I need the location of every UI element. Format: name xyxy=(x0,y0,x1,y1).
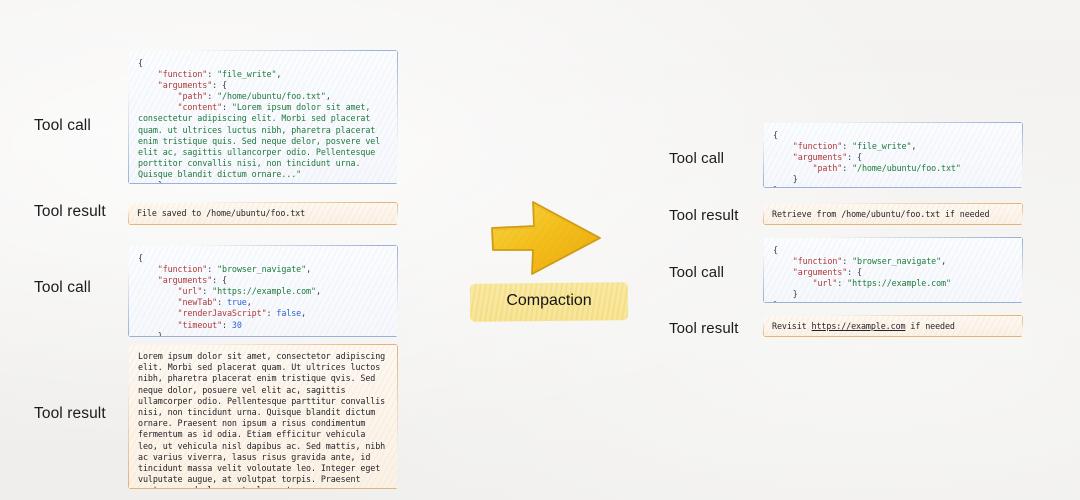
right-tool-call-block-1[interactable]: { "function": "file_write", "arguments":… xyxy=(764,123,1022,187)
left-label-tool-call-1: Tool call xyxy=(34,117,91,135)
result-text-4: Revisit https://example.com if needed xyxy=(772,321,1014,332)
json-code-1: { "function": "file_write", "arguments":… xyxy=(138,58,388,183)
result-text-3: Retrieve from /home/ubuntu/foo.txt if ne… xyxy=(772,209,1014,220)
result-surface: Lorem ipsum dolor sit amet, consectetor … xyxy=(129,345,397,488)
left-tool-result-block-2[interactable]: Lorem ipsum dolor sit amet, consectetor … xyxy=(129,345,397,488)
right-tool-result-block-1[interactable]: Retrieve from /home/ubuntu/foo.txt if ne… xyxy=(764,204,1022,224)
result-text-1: File saved to /home/ubuntu/foo.txt xyxy=(137,208,389,219)
left-tool-result-block-1[interactable]: File saved to /home/ubuntu/foo.txt xyxy=(129,203,397,224)
right-tool-call-block-2[interactable]: { "function": "browser_navigate", "argum… xyxy=(764,238,1022,302)
code-surface: { "function": "file_write", "arguments":… xyxy=(129,51,397,183)
code-surface: { "function": "browser_navigate", "argum… xyxy=(129,246,397,336)
right-tool-result-block-2[interactable]: Revisit https://example.com if needed xyxy=(764,316,1022,336)
left-label-tool-result-1: Tool result xyxy=(34,203,106,221)
right-arrow-icon xyxy=(488,192,608,284)
result-surface: File saved to /home/ubuntu/foo.txt xyxy=(129,203,397,224)
result-surface: Retrieve from /home/ubuntu/foo.txt if ne… xyxy=(764,204,1022,224)
right-label-tool-call-2: Tool call xyxy=(669,264,724,281)
json-code-2: { "function": "browser_navigate", "argum… xyxy=(138,253,388,336)
right-label-tool-result-2: Tool result xyxy=(669,320,738,337)
json-code-4: { "function": "browser_navigate", "argum… xyxy=(773,245,1013,302)
compaction-arrow xyxy=(488,192,608,284)
code-surface: { "function": "file_write", "arguments":… xyxy=(764,123,1022,187)
result-text-2: Lorem ipsum dolor sit amet, consectetor … xyxy=(138,351,388,488)
left-label-tool-result-2: Tool result xyxy=(34,405,106,423)
right-label-tool-result-1: Tool result xyxy=(669,207,738,224)
code-surface: { "function": "browser_navigate", "argum… xyxy=(764,238,1022,302)
result-surface: Revisit https://example.com if needed xyxy=(764,316,1022,336)
right-label-tool-call-1: Tool call xyxy=(669,150,724,167)
compaction-label: Compaction xyxy=(470,292,628,310)
left-tool-call-block-2[interactable]: { "function": "browser_navigate", "argum… xyxy=(129,246,397,336)
compaction-diagram: Tool call Tool result Tool call Tool res… xyxy=(0,0,1080,500)
left-tool-call-block-1[interactable]: { "function": "file_write", "arguments":… xyxy=(129,51,397,183)
left-label-tool-call-2: Tool call xyxy=(34,279,91,297)
json-code-3: { "function": "file_write", "arguments":… xyxy=(773,130,1013,187)
